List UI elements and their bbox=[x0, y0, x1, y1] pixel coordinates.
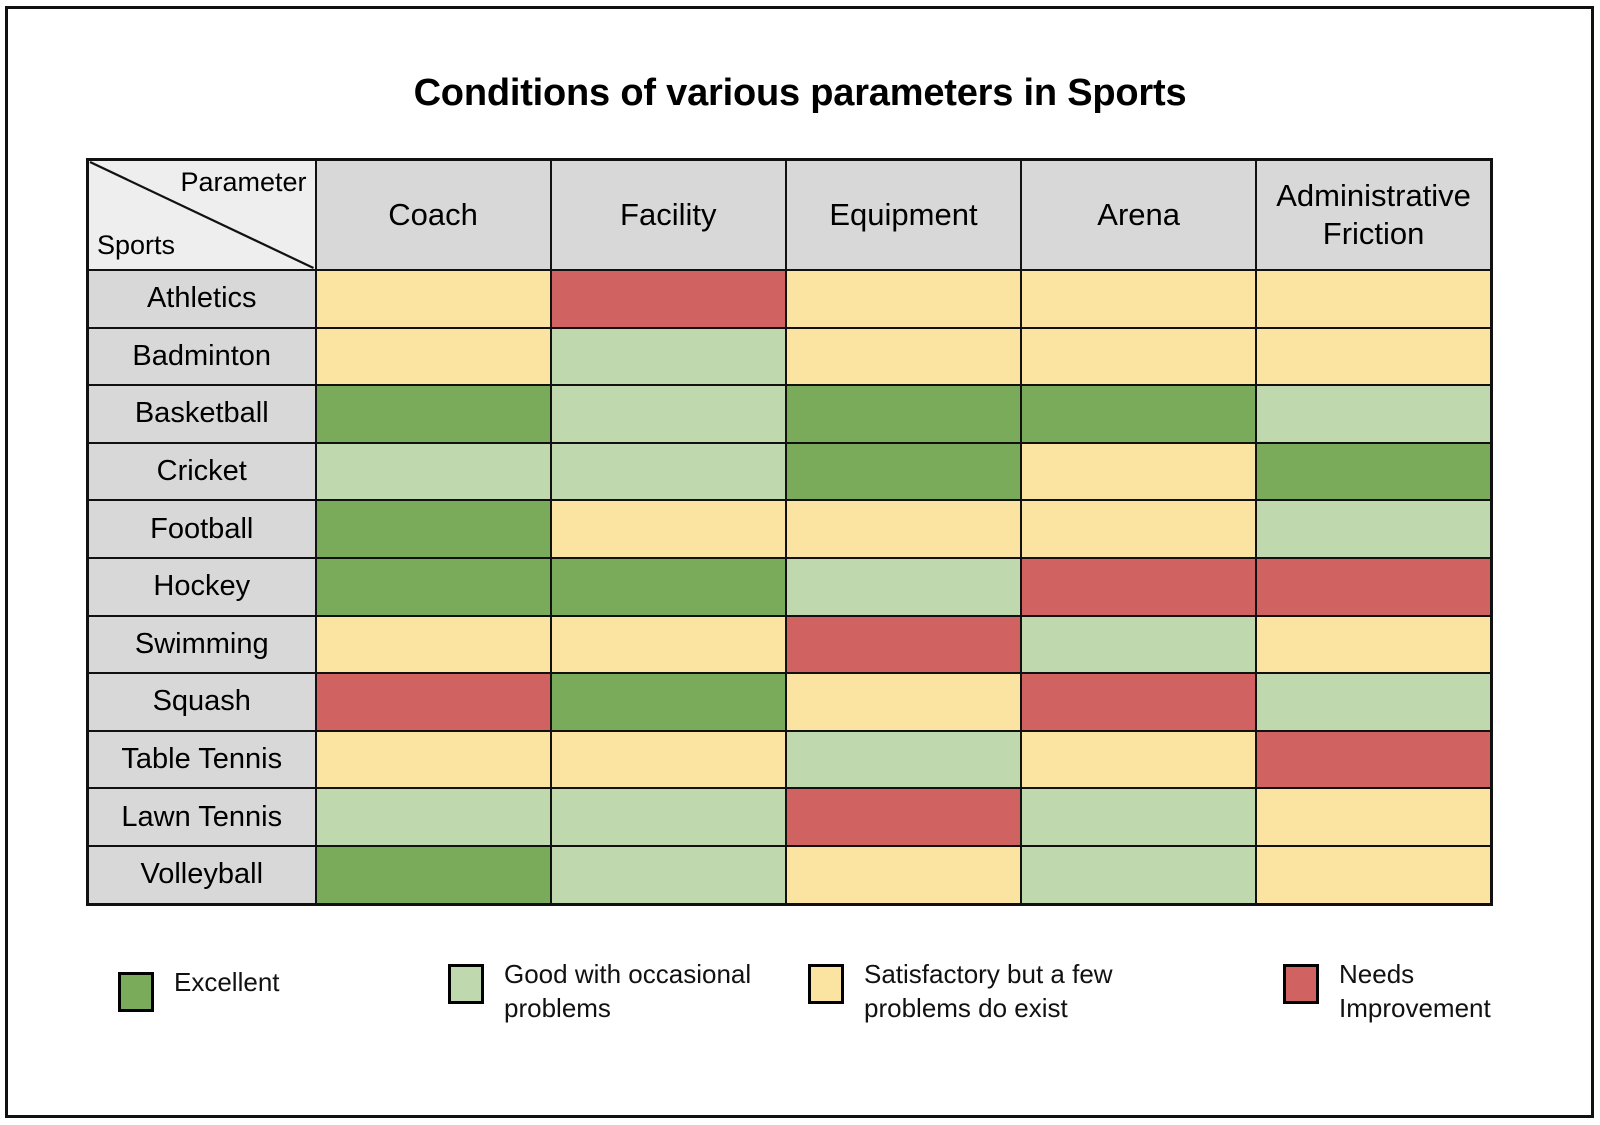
page-title: Conditions of various parameters in Spor… bbox=[0, 72, 1600, 115]
row-axis-label: Sports bbox=[97, 230, 175, 261]
table-row: Lawn Tennis bbox=[88, 788, 1492, 846]
column-header-coach: Coach bbox=[316, 160, 551, 271]
matrix-cell bbox=[786, 270, 1021, 328]
header-row: Parameter Sports Coach Facility Equipmen… bbox=[88, 160, 1492, 271]
legend-label-satisfactory: Satisfactory but a few problems do exist bbox=[864, 958, 1113, 1026]
matrix-cell bbox=[1021, 270, 1256, 328]
legend-swatch-good bbox=[448, 964, 484, 1004]
matrix-cell bbox=[551, 443, 786, 501]
matrix-cell bbox=[316, 558, 551, 616]
matrix-cell bbox=[316, 443, 551, 501]
table-row: Basketball bbox=[88, 385, 1492, 443]
column-header-facility: Facility bbox=[551, 160, 786, 271]
table-row: Swimming bbox=[88, 616, 1492, 674]
legend-item-satisfactory: Satisfactory but a few problems do exist bbox=[808, 958, 1113, 1026]
column-header-equipment: Equipment bbox=[786, 160, 1021, 271]
table-row: Squash bbox=[88, 673, 1492, 731]
row-header-squash: Squash bbox=[88, 673, 316, 731]
matrix-cell bbox=[551, 328, 786, 386]
matrix-cell bbox=[786, 558, 1021, 616]
matrix-cell bbox=[1256, 443, 1491, 501]
matrix-body: AthleticsBadmintonBasketballCricketFootb… bbox=[88, 270, 1492, 904]
matrix-cell bbox=[1021, 731, 1256, 789]
matrix-cell bbox=[786, 616, 1021, 674]
matrix-cell bbox=[1256, 270, 1491, 328]
matrix-cell bbox=[786, 673, 1021, 731]
matrix-cell bbox=[1021, 443, 1256, 501]
column-axis-label: Parameter bbox=[180, 167, 306, 198]
legend-swatch-satisfactory bbox=[808, 964, 844, 1004]
matrix-cell bbox=[1256, 558, 1491, 616]
matrix-cell bbox=[316, 846, 551, 904]
row-header-table-tennis: Table Tennis bbox=[88, 731, 316, 789]
matrix-cell bbox=[786, 731, 1021, 789]
matrix-cell bbox=[786, 385, 1021, 443]
table-row: Volleyball bbox=[88, 846, 1492, 904]
matrix-cell bbox=[1256, 731, 1491, 789]
page-root: Conditions of various parameters in Spor… bbox=[0, 0, 1600, 1125]
matrix-cell bbox=[1256, 616, 1491, 674]
conditions-matrix-table: Parameter Sports Coach Facility Equipmen… bbox=[86, 158, 1493, 906]
matrix-cell bbox=[786, 328, 1021, 386]
matrix-cell bbox=[1021, 616, 1256, 674]
matrix-cell bbox=[551, 270, 786, 328]
table-row: Hockey bbox=[88, 558, 1492, 616]
table-row: Athletics bbox=[88, 270, 1492, 328]
legend-swatch-needs-improvement bbox=[1283, 964, 1319, 1004]
matrix-cell bbox=[1021, 328, 1256, 386]
matrix-cell bbox=[316, 788, 551, 846]
matrix-cell bbox=[551, 385, 786, 443]
legend-swatch-excellent bbox=[118, 972, 154, 1012]
row-header-lawn-tennis: Lawn Tennis bbox=[88, 788, 316, 846]
matrix-cell bbox=[316, 328, 551, 386]
legend-item-excellent: Excellent bbox=[118, 966, 280, 1012]
matrix-head: Parameter Sports Coach Facility Equipmen… bbox=[88, 160, 1492, 271]
matrix-cell bbox=[1021, 673, 1256, 731]
row-header-volleyball: Volleyball bbox=[88, 846, 316, 904]
matrix-cell bbox=[1256, 328, 1491, 386]
column-header-arena: Arena bbox=[1021, 160, 1256, 271]
matrix-cell bbox=[786, 443, 1021, 501]
matrix-cell bbox=[1256, 846, 1491, 904]
matrix-cell bbox=[1021, 500, 1256, 558]
matrix-cell bbox=[1256, 673, 1491, 731]
matrix-cell bbox=[786, 788, 1021, 846]
matrix-cell bbox=[551, 731, 786, 789]
matrix-cell bbox=[316, 500, 551, 558]
row-header-hockey: Hockey bbox=[88, 558, 316, 616]
matrix-cell bbox=[786, 500, 1021, 558]
legend: Excellent Good with occasional problems … bbox=[118, 958, 1518, 1048]
matrix-cell bbox=[1021, 788, 1256, 846]
matrix-cell bbox=[316, 616, 551, 674]
row-header-football: Football bbox=[88, 500, 316, 558]
matrix-cell bbox=[551, 846, 786, 904]
matrix-cell bbox=[551, 788, 786, 846]
matrix-cell bbox=[316, 385, 551, 443]
matrix-cell bbox=[1021, 385, 1256, 443]
matrix-cell bbox=[551, 558, 786, 616]
row-header-badminton: Badminton bbox=[88, 328, 316, 386]
table-row: Badminton bbox=[88, 328, 1492, 386]
matrix-cell bbox=[551, 673, 786, 731]
matrix-cell bbox=[1256, 788, 1491, 846]
row-header-swimming: Swimming bbox=[88, 616, 316, 674]
matrix-cell bbox=[1021, 558, 1256, 616]
row-header-basketball: Basketball bbox=[88, 385, 316, 443]
legend-label-needs-improvement: Needs Improvement bbox=[1339, 958, 1491, 1026]
matrix-cell bbox=[316, 270, 551, 328]
matrix-cell bbox=[316, 731, 551, 789]
legend-item-good: Good with occasional problems bbox=[448, 958, 751, 1026]
row-header-cricket: Cricket bbox=[88, 443, 316, 501]
matrix-cell bbox=[316, 673, 551, 731]
matrix-cell bbox=[551, 500, 786, 558]
legend-label-excellent: Excellent bbox=[174, 966, 280, 1000]
row-header-athletics: Athletics bbox=[88, 270, 316, 328]
column-header-administrative-friction: Administrative Friction bbox=[1256, 160, 1491, 271]
matrix-cell bbox=[786, 846, 1021, 904]
table-row: Cricket bbox=[88, 443, 1492, 501]
matrix-cell bbox=[1021, 846, 1256, 904]
matrix-cell bbox=[1256, 385, 1491, 443]
table-row: Table Tennis bbox=[88, 731, 1492, 789]
matrix-cell bbox=[551, 616, 786, 674]
legend-item-needs-improvement: Needs Improvement bbox=[1283, 958, 1491, 1026]
table-row: Football bbox=[88, 500, 1492, 558]
axis-corner-cell: Parameter Sports bbox=[88, 160, 316, 271]
legend-label-good: Good with occasional problems bbox=[504, 958, 751, 1026]
matrix-container: Parameter Sports Coach Facility Equipmen… bbox=[86, 158, 1490, 906]
matrix-cell bbox=[1256, 500, 1491, 558]
